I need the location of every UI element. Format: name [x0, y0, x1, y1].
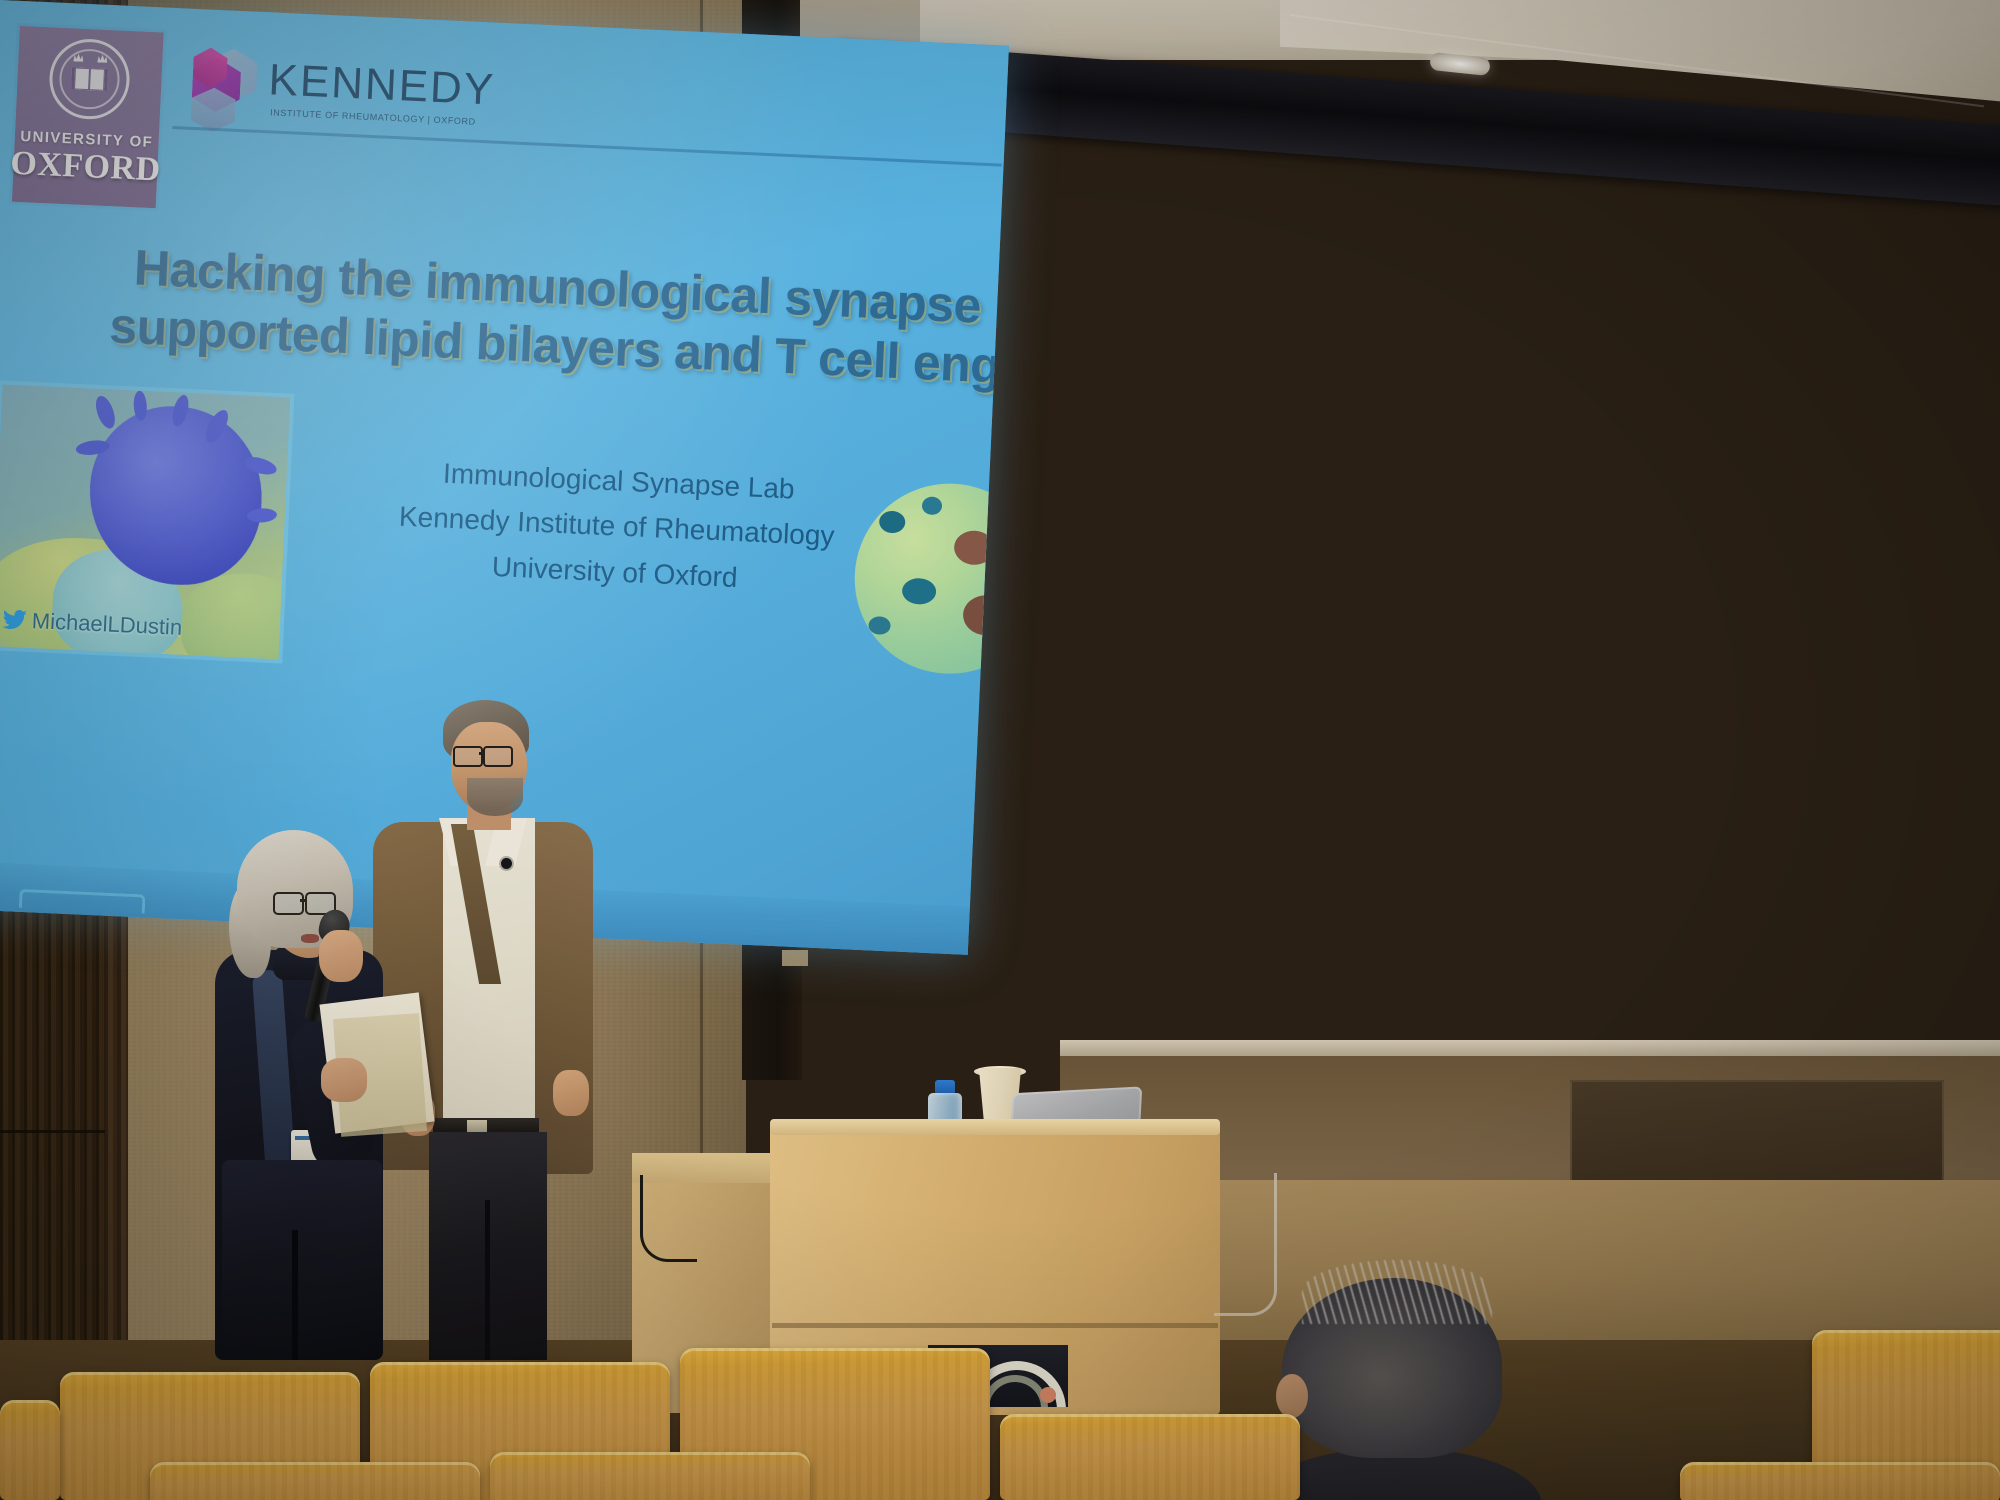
podium-panel-seam	[772, 1323, 1218, 1328]
ear	[1276, 1374, 1308, 1418]
cell-granule	[922, 496, 943, 515]
micrograph-substrate-cell	[180, 571, 295, 664]
woman-trouser-gap	[292, 1230, 298, 1360]
crest-crown-right-icon	[97, 54, 107, 62]
auditorium-seat[interactable]	[150, 1462, 480, 1500]
column-notch	[782, 950, 808, 966]
auditorium-seat[interactable]	[1000, 1414, 1300, 1500]
auditorium-seat[interactable]	[1680, 1462, 2000, 1500]
lecture-hall-photo: UNIVERSITY OF OXFORD KENNEDY INSTITUTE O…	[0, 0, 2000, 1500]
crest-open-book-icon	[71, 67, 108, 91]
audience-member-foreground	[1282, 1278, 1502, 1500]
oxford-crest-icon	[48, 37, 132, 121]
oxford-logo-badge: UNIVERSITY OF OXFORD	[9, 23, 167, 212]
slide-header-divider	[172, 126, 1001, 167]
slide-title: Hacking the immunological synapse suppor…	[44, 234, 1009, 398]
podium-top-lip	[770, 1119, 1220, 1135]
auditorium-seat[interactable]	[490, 1452, 810, 1500]
oxford-logo-line2: OXFORD	[10, 147, 162, 188]
hand-holding-papers	[321, 1058, 367, 1102]
wall-trim-strip	[1060, 1040, 2000, 1056]
man-speaker	[415, 700, 595, 1360]
cell-granule	[879, 510, 906, 533]
hand-right	[553, 1070, 589, 1116]
cell-microvillus	[247, 508, 278, 524]
crest-crown-left-icon	[73, 53, 83, 61]
clip-microphone-icon	[501, 858, 512, 869]
eyeglass-lens-left-icon	[453, 746, 483, 767]
cell-granule	[953, 530, 995, 566]
eyeglass-lens-right-icon	[483, 746, 513, 767]
twitter-bird-icon	[1, 609, 28, 632]
kennedy-hexagon-logo-icon	[191, 47, 260, 124]
beard	[467, 778, 523, 816]
cell-granule	[868, 616, 891, 635]
t-cell-sem-micrograph: MichaelLDustin	[0, 380, 294, 663]
podium-cable-right	[1214, 1173, 1277, 1316]
auditorium-seat[interactable]	[0, 1400, 60, 1500]
hair-spikes	[1302, 1260, 1492, 1324]
wall-seam	[0, 1130, 105, 1133]
kennedy-logo-name: KENNEDY	[268, 58, 496, 112]
cell-microvillus	[92, 394, 118, 431]
slide-affiliation-block: Immunological Synapse Lab Kennedy Instit…	[304, 445, 930, 609]
woman-trousers	[222, 1160, 382, 1360]
eyeglass-bridge-icon	[479, 752, 485, 755]
cell-granule	[962, 594, 1009, 636]
kennedy-logo-text: KENNEDY INSTITUTE OF RHEUMATOLOGY | OXFO…	[267, 58, 496, 127]
cell-granule	[902, 578, 937, 606]
kennedy-logo: KENNEDY INSTITUTE OF RHEUMATOLOGY | OXFO…	[191, 47, 497, 135]
hand-holding-microphone	[319, 930, 363, 982]
podium-cable	[640, 1175, 697, 1262]
eyeglass-lens-left-icon	[273, 892, 304, 915]
emblem-dot-icon	[1040, 1387, 1056, 1403]
trouser-leg-gap	[485, 1200, 490, 1360]
eyeglass-bridge-icon	[300, 899, 307, 902]
auditorium-seat[interactable]	[1812, 1330, 2000, 1478]
